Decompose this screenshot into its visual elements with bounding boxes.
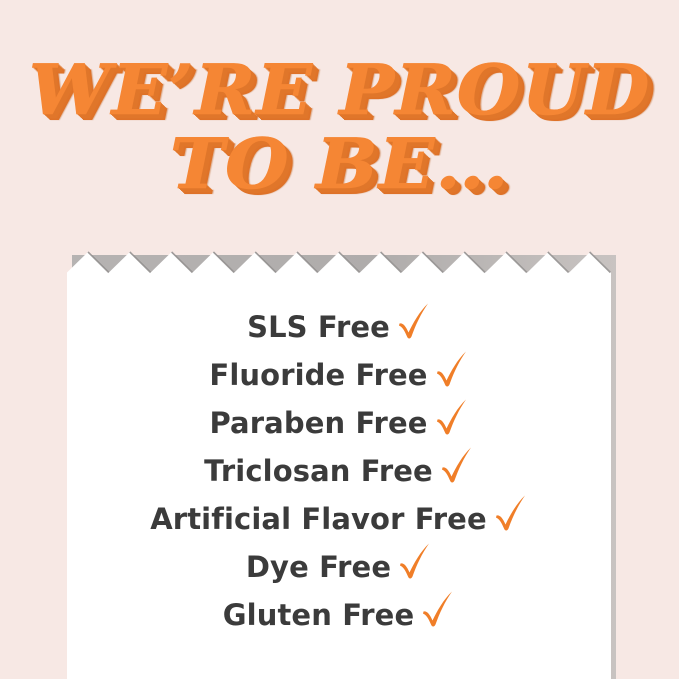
claim-label: Dye Free	[246, 550, 391, 584]
claim-label: SLS Free	[247, 310, 390, 344]
check-mark-icon	[397, 301, 431, 341]
check-mark-icon	[435, 349, 469, 389]
check-mark-icon	[435, 397, 469, 437]
headline: WE’RE PROUD TO BE…	[0, 58, 679, 197]
list-item: Fluoride Free	[67, 351, 611, 399]
claim-label: Paraben Free	[209, 406, 427, 440]
receipt-paper: SLS Free Fluoride Free Paraben Free	[67, 247, 616, 679]
claim-label: Fluoride Free	[209, 358, 427, 392]
list-item: Dye Free	[67, 543, 611, 591]
list-item: Artificial Flavor Free	[67, 495, 611, 543]
check-mark-icon	[494, 493, 528, 533]
check-mark-icon	[440, 445, 474, 485]
list-item: Gluten Free	[67, 591, 611, 639]
claim-label: Triclosan Free	[204, 454, 433, 488]
check-mark-icon	[398, 541, 432, 581]
check-mark-icon	[421, 589, 455, 629]
proud-to-be-poster: WE’RE PROUD TO BE…	[0, 0, 679, 679]
headline-line-2: TO BE…	[0, 132, 679, 198]
list-item: SLS Free	[67, 303, 611, 351]
claims-list: SLS Free Fluoride Free Paraben Free	[67, 303, 611, 639]
headline-line-1: WE’RE PROUD	[0, 58, 679, 124]
list-item: Triclosan Free	[67, 447, 611, 495]
claim-label: Gluten Free	[223, 598, 415, 632]
claim-label: Artificial Flavor Free	[150, 502, 487, 536]
list-item: Paraben Free	[67, 399, 611, 447]
